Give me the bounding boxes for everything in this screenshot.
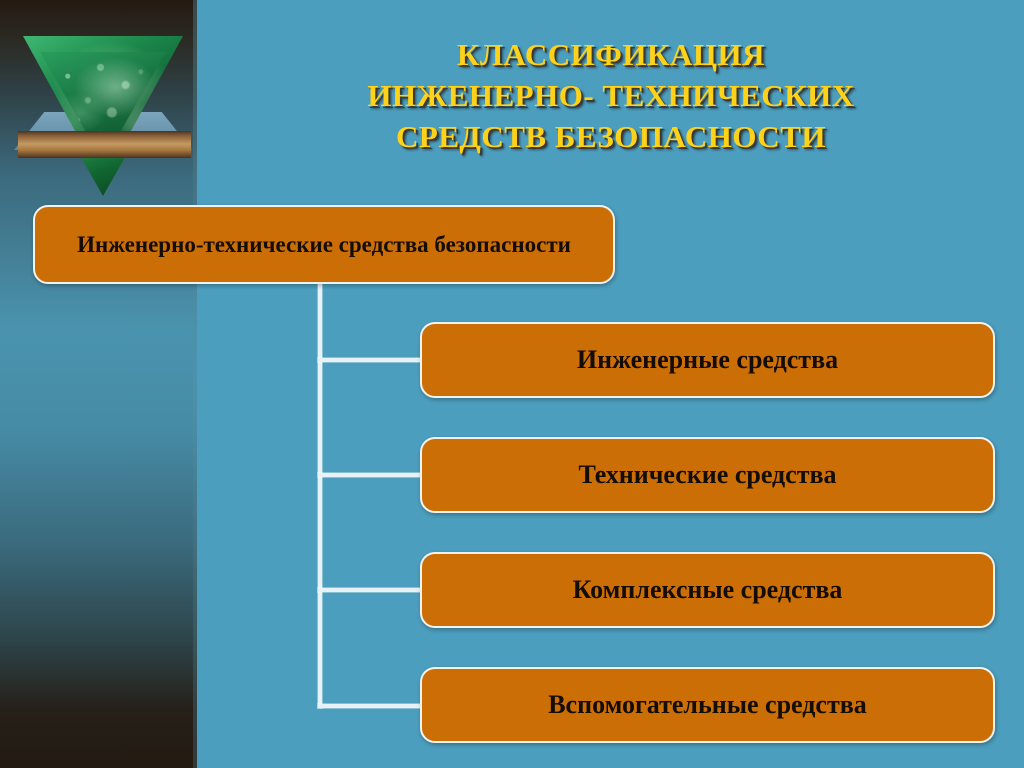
diagram-node-label: Комплексные средства	[573, 575, 843, 605]
emblem-bronze-bar-shape	[18, 131, 191, 158]
diagram-node-technical-means[interactable]: Технические средства	[420, 437, 995, 513]
connector-trunk-vertical	[318, 284, 322, 708]
connector-branch-2	[318, 473, 422, 477]
diagram-node-label: Инженерные средства	[577, 345, 838, 375]
diagram-node-label: Технические средства	[578, 460, 836, 490]
diagram-node-complex-means[interactable]: Комплексные средства	[420, 552, 995, 628]
diagram-node-root-label: Инженерно-технические средства безопасно…	[77, 230, 571, 260]
connector-branch-1	[318, 358, 422, 362]
connector-branch-4	[318, 704, 422, 708]
diagram-node-auxiliary-means[interactable]: Вспомогательные средства	[420, 667, 995, 743]
green-marble-inverted-pyramid-logo-icon	[8, 18, 198, 196]
diagram-node-engineering-means[interactable]: Инженерные средства	[420, 322, 995, 398]
slide-canvas: КЛАССИФИКАЦИЯ ИНЖЕНЕРНО- ТЕХНИЧЕСКИХ СРЕ…	[0, 0, 1024, 768]
diagram-node-label: Вспомогательные средства	[548, 690, 867, 720]
connector-branch-3	[318, 588, 422, 592]
slide-title: КЛАССИФИКАЦИЯ ИНЖЕНЕРНО- ТЕХНИЧЕСКИХ СРЕ…	[205, 34, 1017, 157]
diagram-node-root[interactable]: Инженерно-технические средства безопасно…	[33, 205, 615, 284]
